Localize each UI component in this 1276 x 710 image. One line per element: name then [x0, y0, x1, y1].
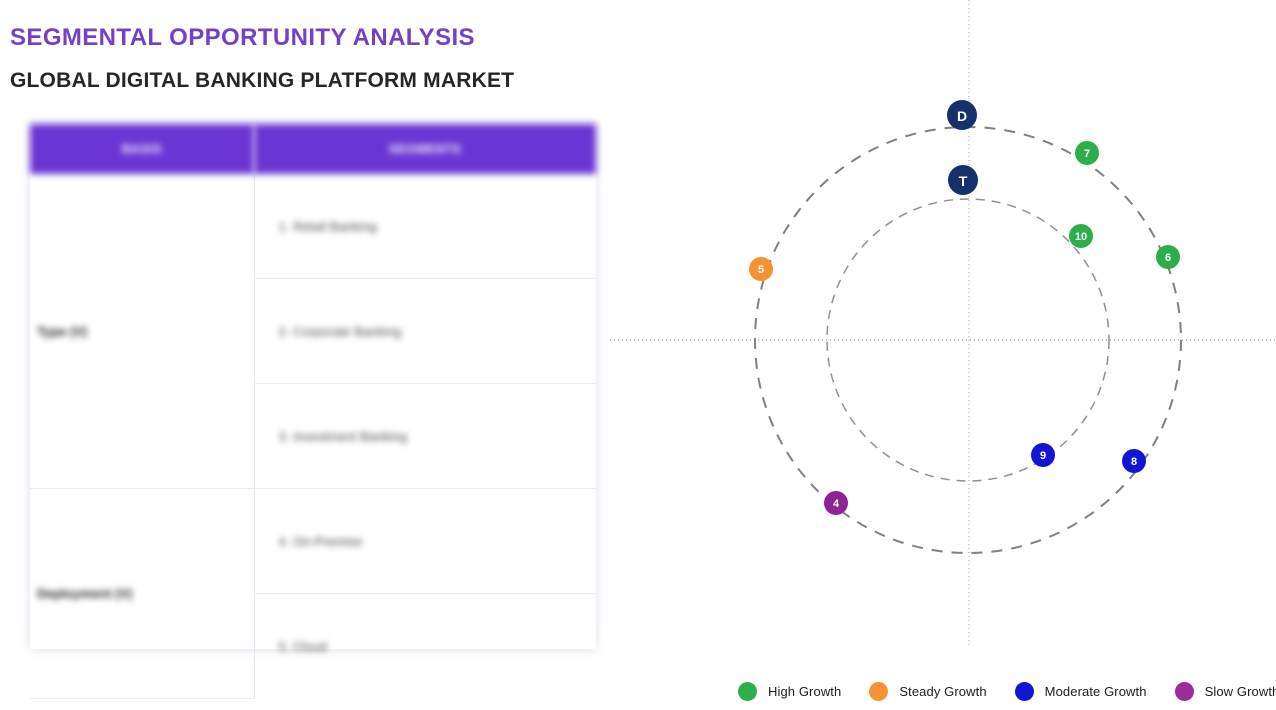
legend-item-slow-growth: Slow Growth: [1175, 682, 1276, 701]
bubble-8[interactable]: 8: [1122, 449, 1146, 473]
bubble-9[interactable]: 9: [1031, 443, 1055, 467]
legend-dot-icon: [1015, 682, 1034, 701]
table-cell-segment: 4. On-Premise: [254, 489, 596, 594]
chart-legend: High Growth Steady Growth Moderate Growt…: [738, 682, 1276, 701]
bubble-4-label: 4: [833, 498, 840, 510]
axis-marker-d[interactable]: D: [947, 100, 977, 130]
axis-marker-t[interactable]: T: [948, 165, 978, 195]
legend-dot-icon: [1175, 682, 1194, 701]
bubble-9-label: 9: [1040, 450, 1046, 462]
table-header: BASIS SEGMENTS: [30, 124, 596, 174]
legend-item-high-growth: High Growth: [738, 682, 841, 701]
table-row: Type (V) 1. Retail Banking: [30, 174, 596, 279]
legend-label: High Growth: [768, 684, 841, 699]
legend-item-steady-growth: Steady Growth: [869, 682, 986, 701]
axis-marker-d-label: D: [957, 108, 967, 124]
bubble-7-label: 7: [1084, 148, 1090, 160]
table-header-row: BASIS SEGMENTS: [30, 124, 596, 174]
column-header-basis: BASIS: [30, 124, 254, 174]
bubble-6[interactable]: 6: [1156, 245, 1180, 269]
legend-dot-icon: [869, 682, 888, 701]
segments-table: BASIS SEGMENTS Type (V) 1. Retail Bankin…: [30, 124, 596, 699]
bubble-8-label: 8: [1131, 456, 1137, 468]
opportunity-quadrant-chart: D T 7 10 6 5 9 8: [600, 0, 1276, 660]
table-row: Deployment (V) 4. On-Premise: [30, 489, 596, 594]
quadrant-svg: D T 7 10 6 5 9 8: [600, 0, 1276, 660]
table-cell-category: Deployment (V): [30, 489, 254, 699]
column-header-segments: SEGMENTS: [254, 124, 596, 174]
axis-marker-t-label: T: [959, 173, 968, 189]
legend-label: Slow Growth: [1205, 684, 1276, 699]
table-cell-category: Type (V): [30, 174, 254, 489]
bubble-10[interactable]: 10: [1069, 224, 1093, 248]
legend-item-moderate-growth: Moderate Growth: [1015, 682, 1147, 701]
segments-table-card: BASIS SEGMENTS Type (V) 1. Retail Bankin…: [30, 124, 596, 649]
bubble-7[interactable]: 7: [1075, 141, 1099, 165]
legend-label: Steady Growth: [899, 684, 986, 699]
table-cell-segment: 3. Investment Banking: [254, 384, 596, 489]
page-title: GLOBAL DIGITAL BANKING PLATFORM MARKET: [10, 69, 514, 93]
bubble-5-label: 5: [758, 264, 764, 276]
table-cell-segment: 1. Retail Banking: [254, 174, 596, 279]
bubble-10-label: 10: [1075, 231, 1087, 243]
bubble-6-label: 6: [1165, 252, 1171, 264]
legend-label: Moderate Growth: [1045, 684, 1147, 699]
table-body: Type (V) 1. Retail Banking 2. Corporate …: [30, 174, 596, 698]
page-eyebrow-title: SEGMENTAL OPPORTUNITY ANALYSIS: [10, 24, 475, 52]
table-cell-segment: 5. Cloud: [254, 594, 596, 699]
bubble-5[interactable]: 5: [749, 257, 773, 281]
legend-dot-icon: [738, 682, 757, 701]
table-cell-segment: 2. Corporate Banking: [254, 279, 596, 384]
bubble-4[interactable]: 4: [824, 491, 848, 515]
